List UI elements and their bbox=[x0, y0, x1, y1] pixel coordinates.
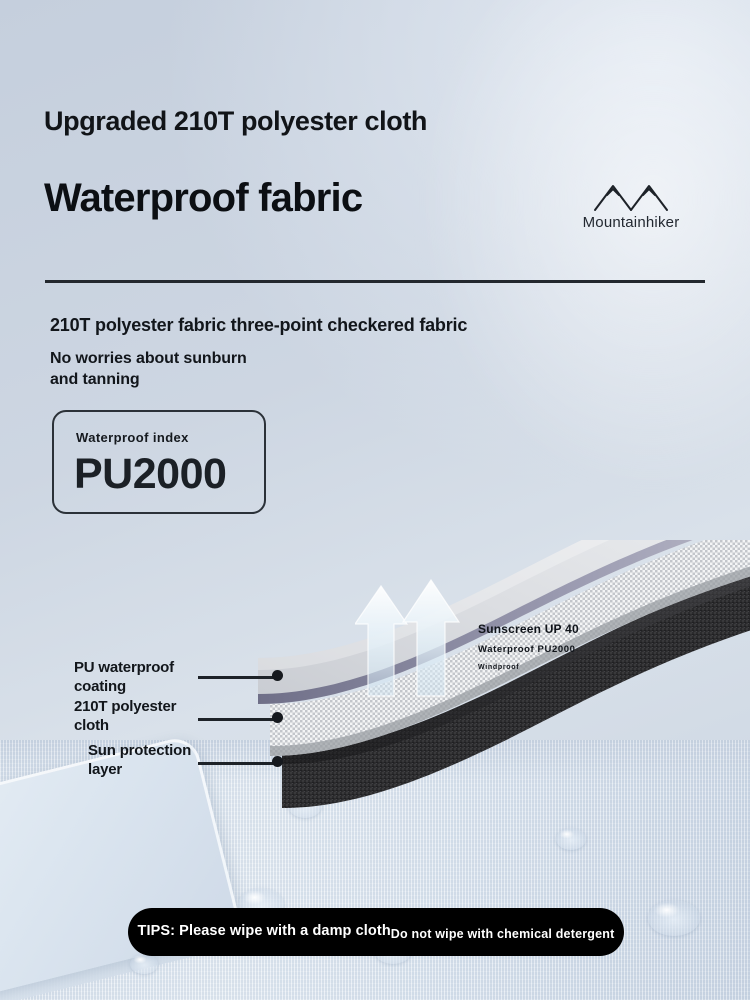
tips-banner: TIPS: Please wipe with a damp cloth Do n… bbox=[128, 908, 624, 956]
callout-pu-waterproof-coating: PU waterproof coating bbox=[74, 659, 174, 697]
water-droplet bbox=[130, 954, 158, 974]
callout-210t-polyester-cloth: 210T polyester cloth bbox=[74, 698, 176, 736]
sun-protection-note: No worries about sunburn and tanning bbox=[50, 348, 247, 390]
up-arrow-icon bbox=[355, 580, 459, 696]
waterproof-index-value: PU2000 bbox=[74, 450, 226, 499]
waterproof-index-card: Waterproof index PU2000 bbox=[52, 410, 266, 514]
leader-line-pu-coating bbox=[198, 676, 280, 679]
leader-dot-sun-layer bbox=[272, 756, 283, 767]
background-light-sweep bbox=[315, 0, 750, 620]
product-infographic: Upgraded 210T polyester cloth Waterproof… bbox=[0, 0, 750, 1000]
brand-logo: Mountainhiker bbox=[556, 182, 706, 231]
brand-name: Mountainhiker bbox=[556, 214, 706, 231]
waterproof-index-label: Waterproof index bbox=[76, 430, 189, 445]
mountain-peaks-icon bbox=[593, 182, 669, 212]
fabric-layer-diagram bbox=[230, 540, 750, 810]
leader-line-sun-layer bbox=[198, 762, 280, 765]
leader-dot-polyester bbox=[272, 712, 283, 723]
water-droplet bbox=[648, 900, 700, 936]
fabric-description: 210T polyester fabric three-point checke… bbox=[50, 315, 467, 336]
eyebrow-heading: Upgraded 210T polyester cloth bbox=[44, 106, 427, 137]
tips-secondary-text: Do not wipe with chemical detergent bbox=[391, 927, 615, 941]
tips-primary-text: TIPS: Please wipe with a damp cloth bbox=[138, 923, 391, 939]
callout-sun-protection-layer: Sun protection layer bbox=[88, 742, 191, 780]
spec-waterproof: Waterproof PU2000 bbox=[478, 644, 575, 655]
spec-windproof: Windproof bbox=[478, 664, 519, 671]
breathability-arrows bbox=[355, 578, 475, 708]
section-divider bbox=[45, 280, 705, 283]
spec-sunscreen: Sunscreen UP 40 bbox=[478, 622, 579, 636]
water-droplet bbox=[556, 828, 586, 850]
leader-line-polyester bbox=[198, 718, 280, 721]
page-title: Waterproof fabric bbox=[44, 176, 362, 221]
leader-dot-pu-coating bbox=[272, 670, 283, 681]
